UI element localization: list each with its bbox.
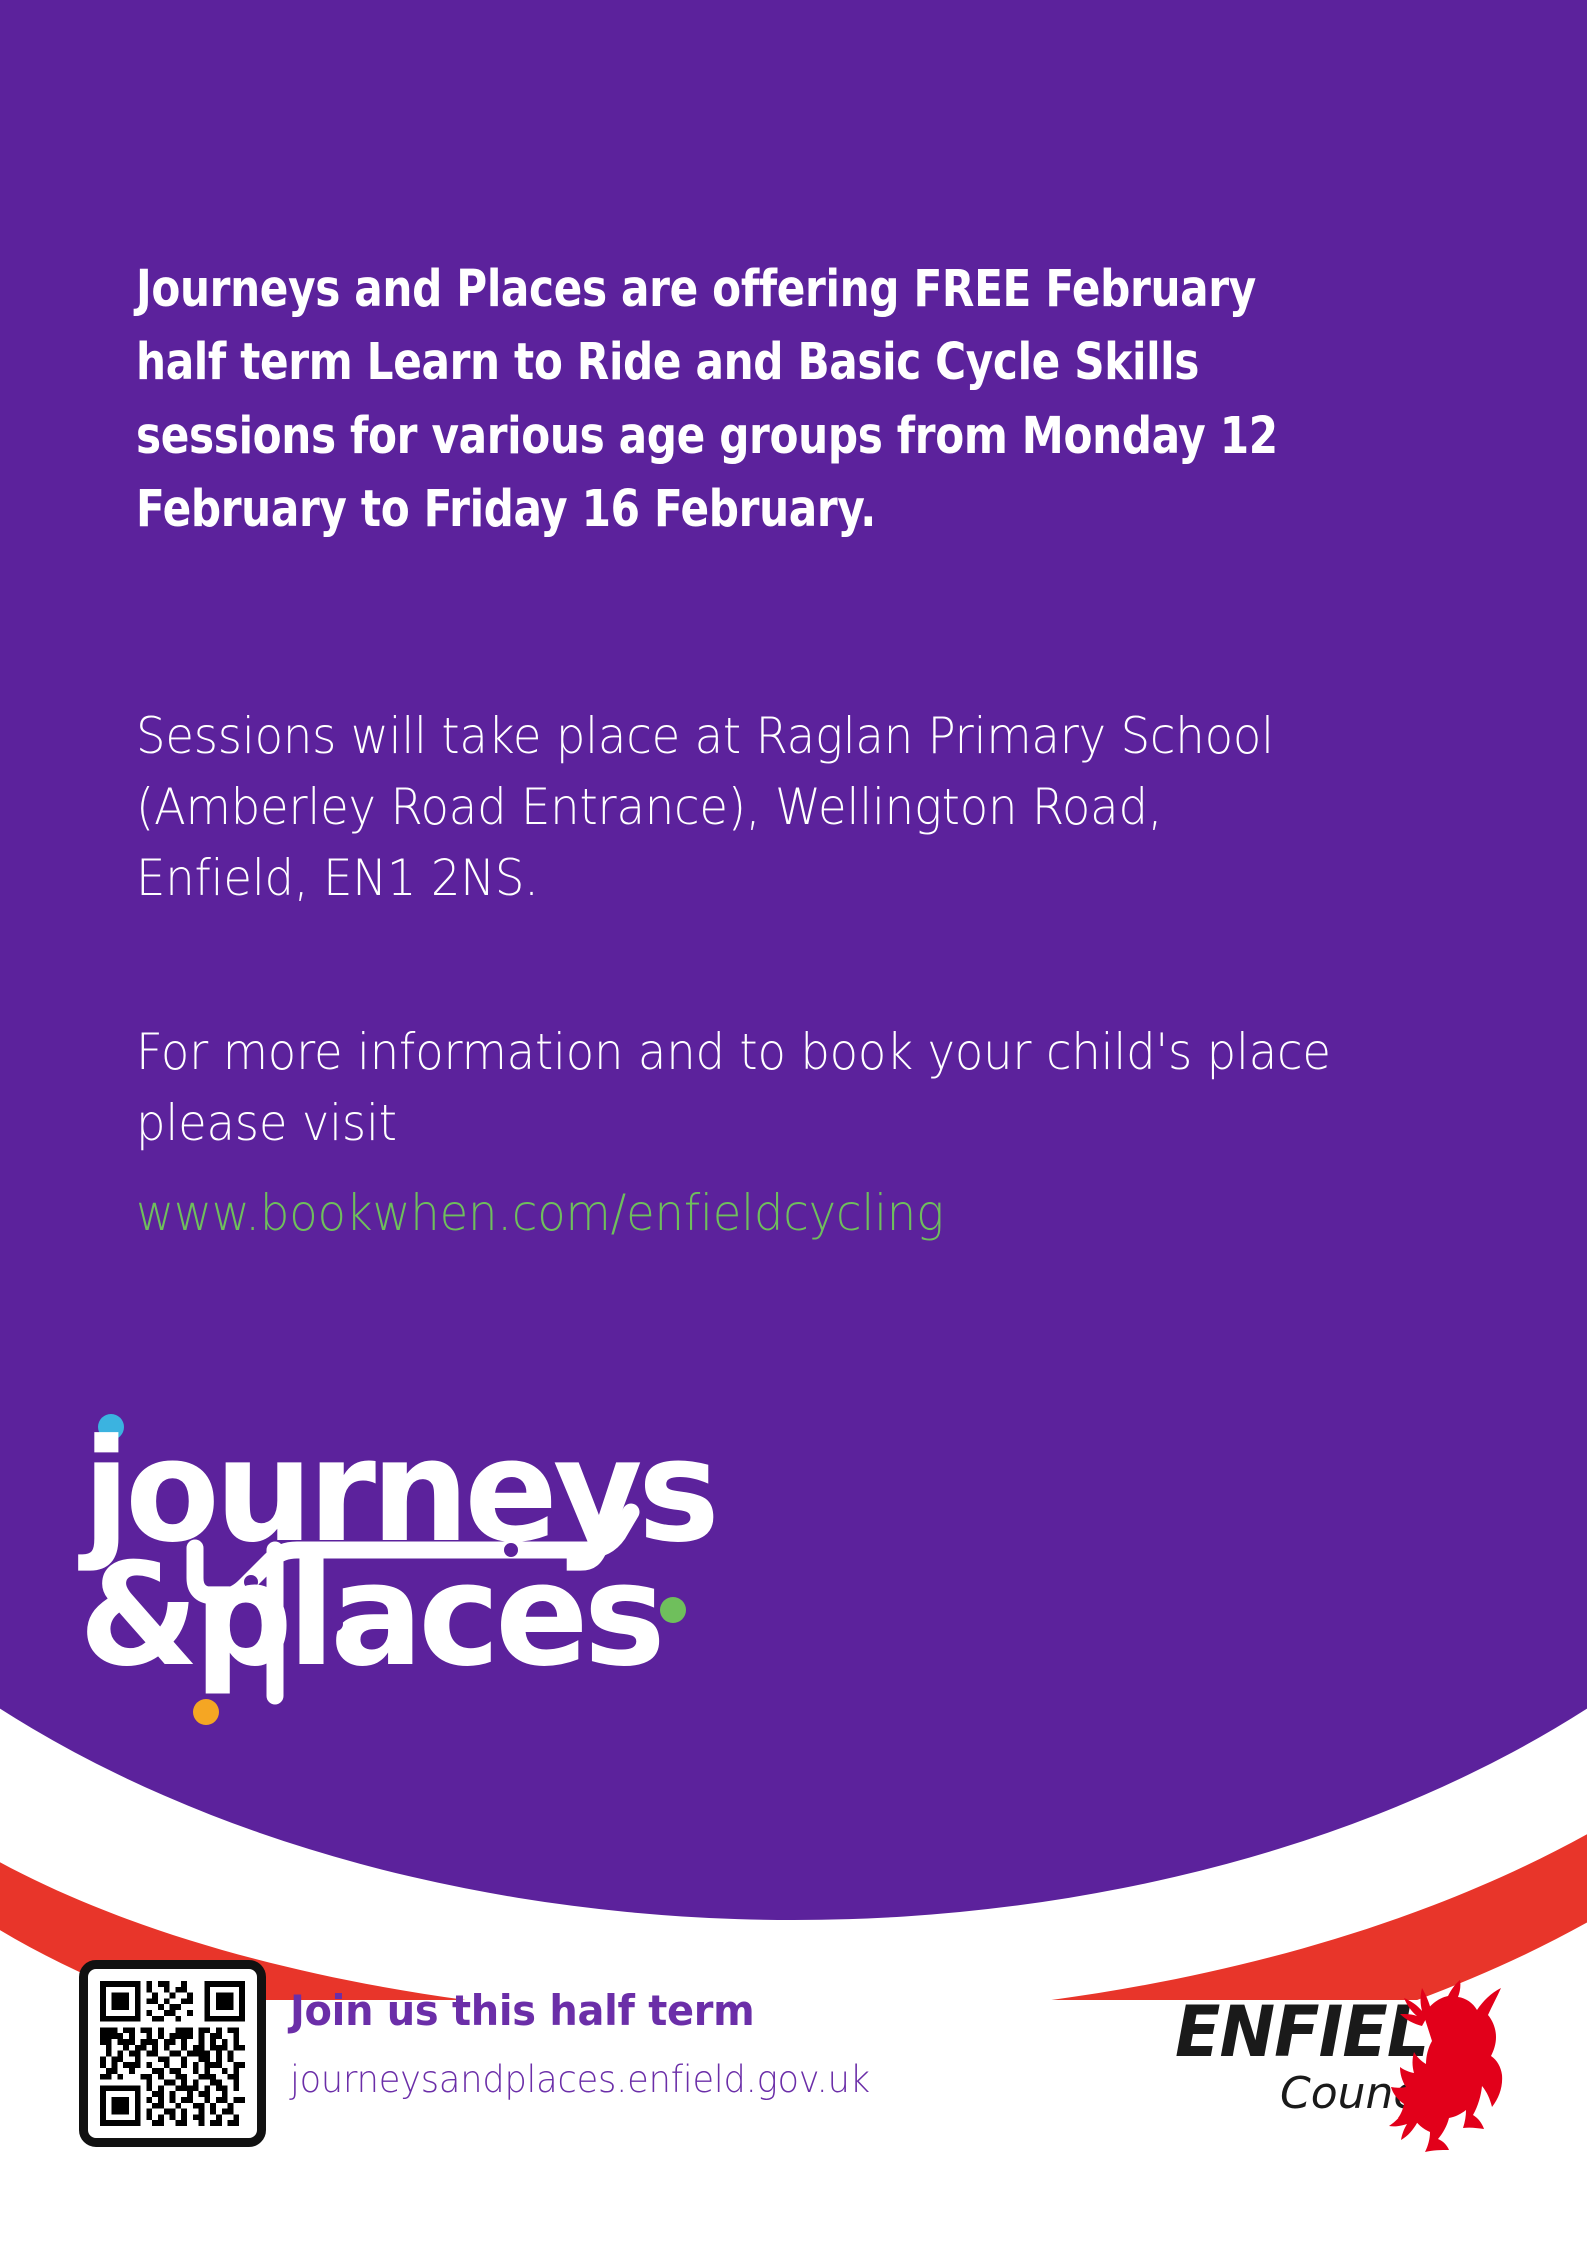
svg-text:&places: &places bbox=[79, 1532, 661, 1697]
footer-text-block: Join us this half term journeysandplaces… bbox=[290, 1988, 1090, 2101]
booking-paragraph: For more information and to book your ch… bbox=[136, 1017, 1345, 1159]
booking-link[interactable]: www.bookwhen.com/enfieldcycling bbox=[136, 1178, 944, 1249]
poster-root: Journeys and Places are offering FREE Fe… bbox=[0, 0, 1587, 2245]
poster-footer: Join us this half term journeysandplaces… bbox=[0, 1930, 1587, 2245]
location-paragraph: Sessions will take place at Raglan Prima… bbox=[136, 701, 1345, 914]
footer-heading: Join us this half term bbox=[290, 1988, 1050, 2034]
qr-code[interactable] bbox=[79, 1960, 266, 2147]
footer-website-link[interactable]: journeysandplaces.enfield.gov.uk bbox=[290, 2060, 1050, 2101]
enfield-council-logo: ENFIELD Council bbox=[1175, 1958, 1535, 2168]
green-dot-icon bbox=[660, 1597, 686, 1623]
page-title: Journeys and Places are offering FREE Fe… bbox=[136, 253, 1323, 547]
qr-code-icon bbox=[100, 1981, 245, 2126]
orange-dot-icon bbox=[193, 1699, 219, 1725]
journeys-and-places-logo: journeys &places bbox=[75, 1400, 775, 1740]
